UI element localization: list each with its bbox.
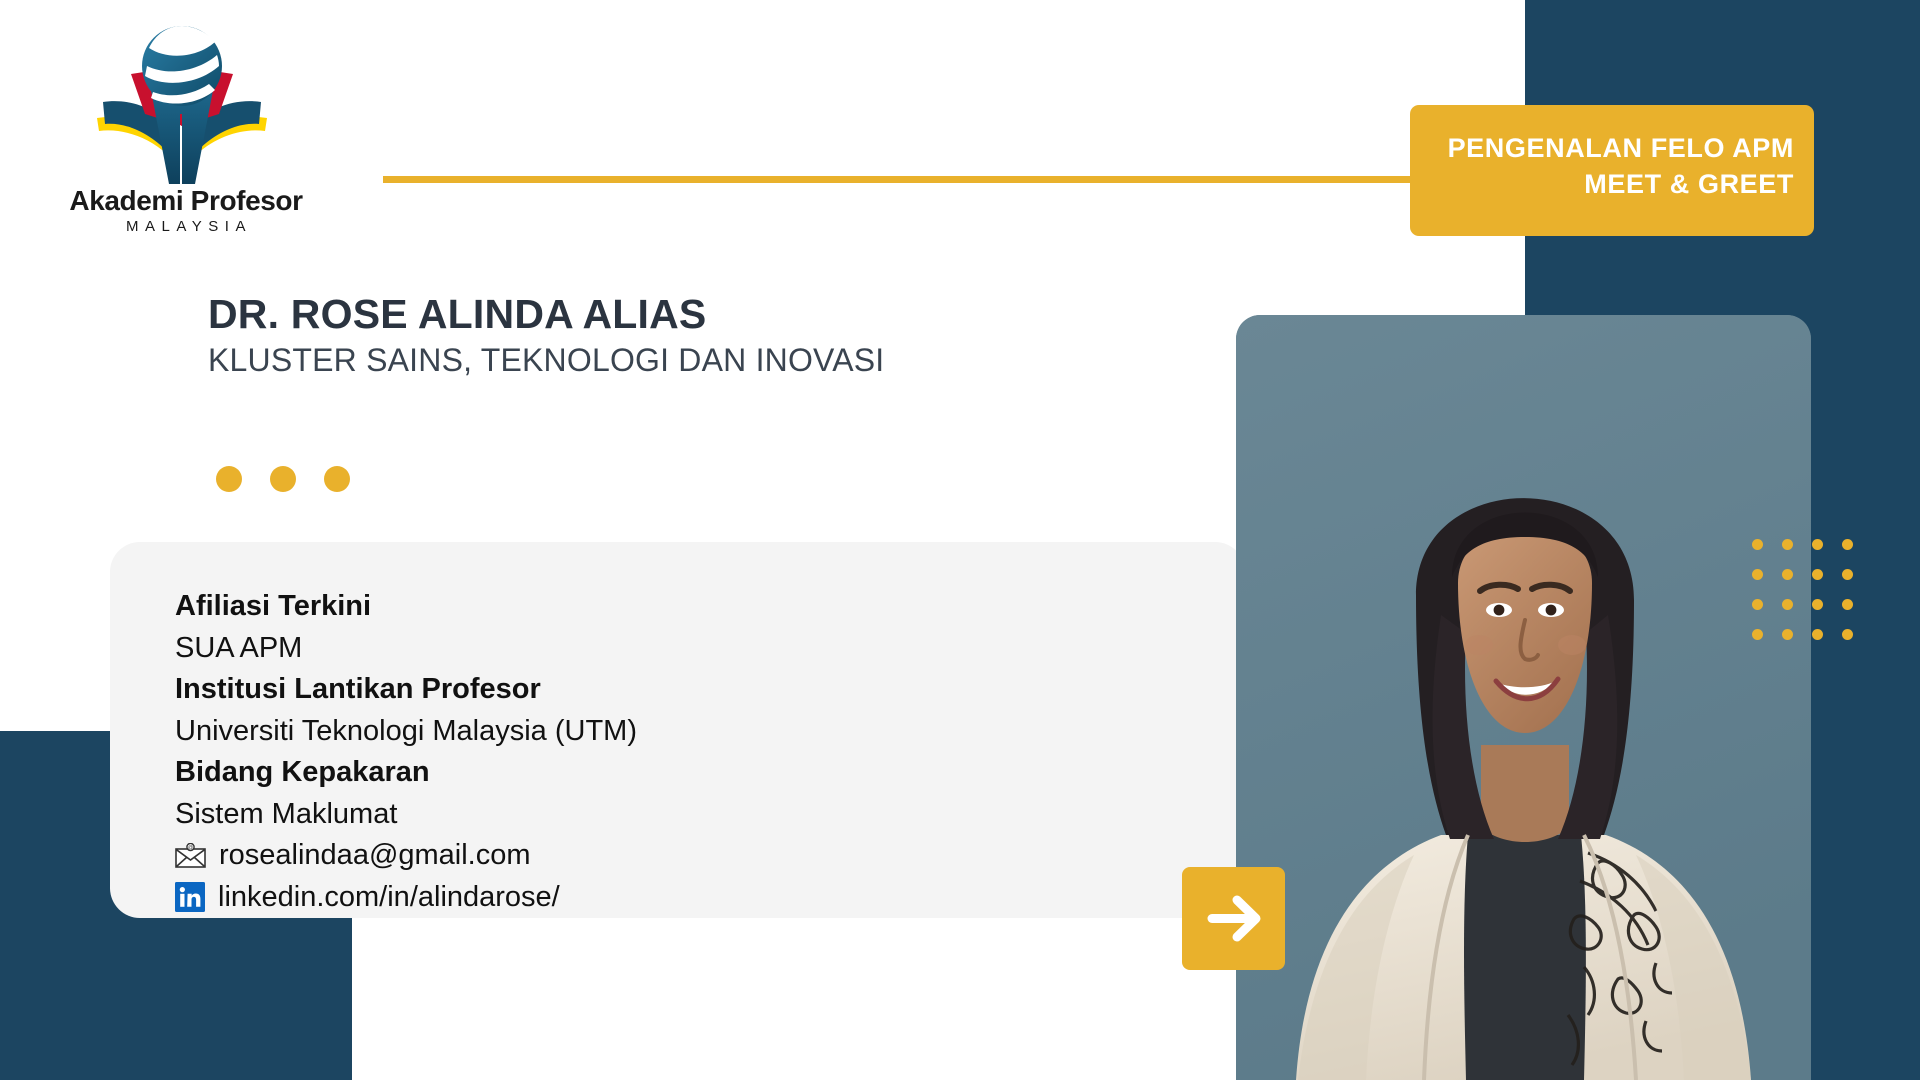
grid-dot-icon	[1842, 599, 1853, 610]
grid-dot-icon	[1752, 539, 1763, 550]
event-banner-line-1: PENGENALAN FELO APM	[1410, 131, 1794, 167]
grid-dot-icon	[1782, 569, 1793, 580]
dot-icon	[324, 466, 350, 492]
decorative-dot-row	[216, 466, 350, 492]
grid-dot-icon	[1812, 539, 1823, 550]
contact-linkedin[interactable]: linkedin.com/in/alindarose/	[175, 877, 1245, 919]
linkedin-icon	[175, 882, 205, 912]
contact-linkedin-text: linkedin.com/in/alindarose/	[218, 877, 560, 919]
brand-logo: Akademi Profesor MALAYSIA	[55, 18, 317, 233]
brand-subtitle: MALAYSIA	[55, 218, 317, 235]
portrait-photo-card	[1236, 315, 1811, 1080]
info-label-affiliation: Afiliasi Terkini	[175, 586, 1245, 628]
grid-dot-icon	[1812, 599, 1823, 610]
portrait-image	[1236, 315, 1811, 1080]
event-banner-line-2: MEET & GREET	[1410, 167, 1794, 203]
decorative-dot-grid	[1752, 539, 1872, 659]
grid-dot-icon	[1842, 539, 1853, 550]
info-value-expertise: Sistem Maklumat	[175, 794, 1245, 836]
page-subtitle: KLUSTER SAINS, TEKNOLOGI DAN INOVASI	[208, 342, 884, 379]
info-label-expertise: Bidang Kepakaran	[175, 752, 1245, 794]
contact-email-text: rosealindaa@gmail.com	[219, 835, 531, 877]
grid-dot-icon	[1782, 539, 1793, 550]
brand-name: Akademi Profesor	[55, 186, 317, 215]
grid-dot-icon	[1752, 569, 1763, 580]
dot-icon	[216, 466, 242, 492]
grid-dot-icon	[1812, 629, 1823, 640]
grid-dot-icon	[1812, 569, 1823, 580]
event-banner: PENGENALAN FELO APM MEET & GREET	[1410, 105, 1814, 236]
slide-canvas: Akademi Profesor MALAYSIA PENGENALAN FEL…	[0, 0, 1920, 1080]
brand-wordmark: Akademi Profesor MALAYSIA	[55, 186, 317, 235]
profile-info-card: Afiliasi Terkini SUA APM Institusi Lanti…	[110, 542, 1245, 918]
akademi-profesor-emblem-icon	[87, 18, 277, 188]
email-icon: @	[175, 843, 206, 868]
grid-dot-icon	[1752, 629, 1763, 640]
header-divider-rule	[383, 176, 1410, 183]
page-title: DR. ROSE ALINDA ALIAS	[208, 291, 706, 338]
grid-dot-icon	[1782, 629, 1793, 640]
svg-text:@: @	[188, 845, 193, 851]
grid-dot-icon	[1782, 599, 1793, 610]
dot-icon	[270, 466, 296, 492]
grid-dot-icon	[1752, 599, 1763, 610]
contact-email[interactable]: @ rosealindaa@gmail.com	[175, 835, 1245, 877]
info-value-affiliation: SUA APM	[175, 628, 1245, 670]
info-label-institution: Institusi Lantikan Profesor	[175, 669, 1245, 711]
arrow-right-icon	[1182, 867, 1285, 970]
next-slide-button[interactable]	[1182, 867, 1285, 970]
grid-dot-icon	[1842, 629, 1853, 640]
grid-dot-icon	[1842, 569, 1853, 580]
info-value-institution: Universiti Teknologi Malaysia (UTM)	[175, 711, 1245, 753]
